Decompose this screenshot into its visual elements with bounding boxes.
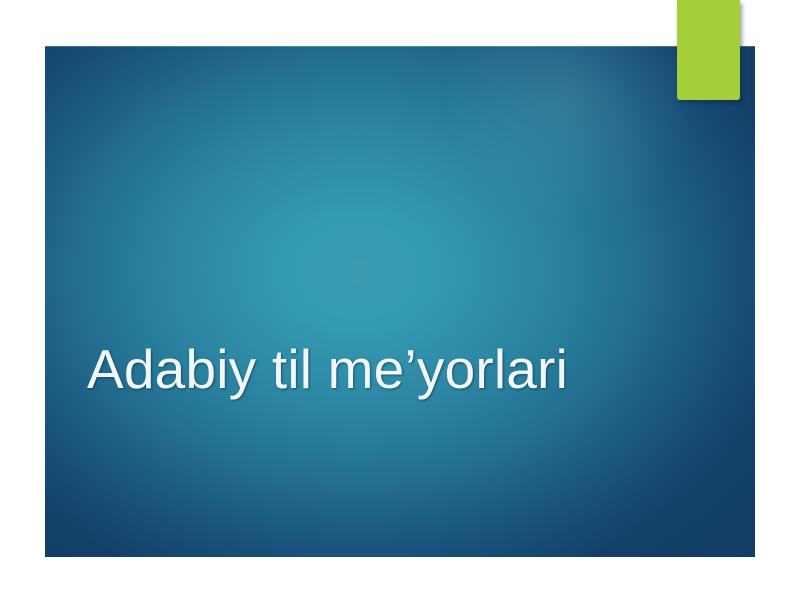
slide-title: Adabiy til me’yorlari [87,338,687,400]
slide-top-edge-highlight [45,46,755,47]
slide-vignette-overlay [45,46,755,557]
slide-title-placeholder[interactable]: Adabiy til me’yorlari [87,338,687,400]
presentation-page: Adabiy til me’yorlari [0,0,800,600]
slide-canvas[interactable]: Adabiy til me’yorlari [45,46,755,557]
green-accent-bar [677,0,740,100]
